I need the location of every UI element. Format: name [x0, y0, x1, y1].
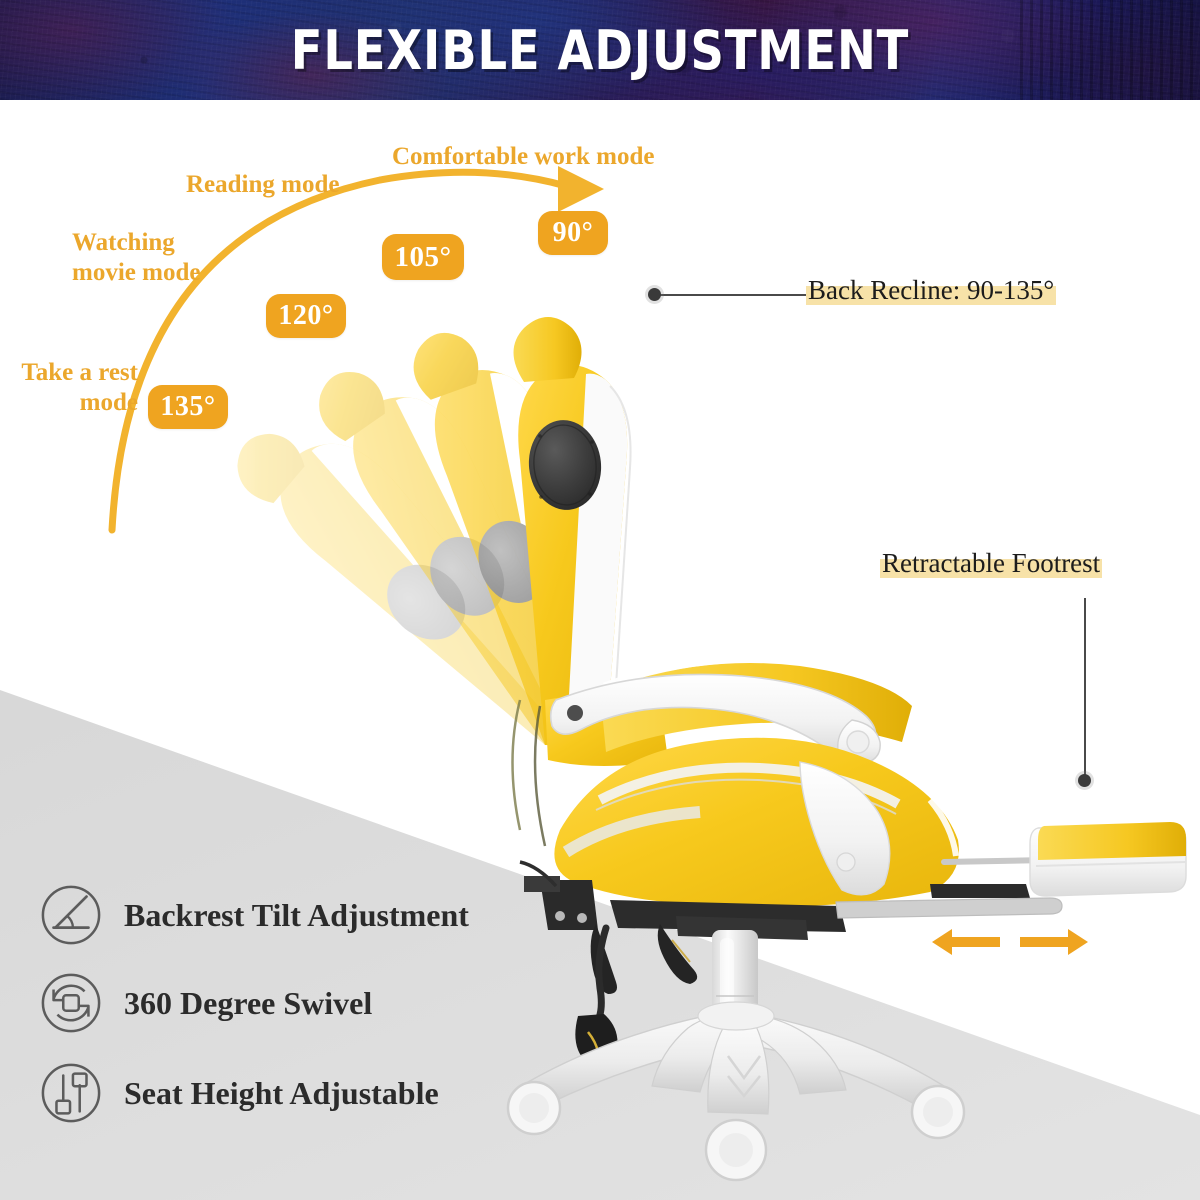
footrest-slide-arrows — [930, 925, 1090, 959]
angle-badge-105[interactable]: 105° — [382, 234, 464, 280]
angle-badge-135[interactable]: 135° — [148, 385, 228, 429]
feature-item-seat-height[interactable]: Seat Height Adjustable — [40, 1062, 439, 1124]
mode-label-take-a-rest: Take a rest mode — [20, 358, 138, 417]
backrest-ghost-105 — [406, 314, 623, 753]
callout-dot-back-recline — [648, 288, 661, 301]
arc-arrowhead — [558, 166, 604, 212]
feature-label-backrest-tilt: Backrest Tilt Adjustment — [124, 897, 469, 934]
feature-label-360-swivel: 360 Degree Swivel — [124, 985, 372, 1022]
arrow-right-icon — [1020, 929, 1088, 955]
callout-back-recline-label: Back Recline: 90-135° — [806, 275, 1056, 306]
rotate-360-icon — [40, 972, 102, 1034]
feature-item-360-swivel[interactable]: 360 Degree Swivel — [40, 972, 372, 1034]
angle-badge-120[interactable]: 120° — [266, 294, 346, 338]
mode-label-work: Comfortable work mode — [392, 142, 654, 172]
armrest — [551, 674, 881, 764]
callout-back-recline: Back Recline: 90-135° — [806, 275, 1056, 306]
tilt-angle-icon — [40, 884, 102, 946]
callout-retractable-footrest: Retractable Footrest — [880, 548, 1102, 579]
seat-pan — [554, 738, 959, 907]
feature-label-seat-height: Seat Height Adjustable — [124, 1075, 439, 1112]
callout-leader-back-recline — [658, 294, 806, 296]
mode-label-reading: Reading mode — [186, 170, 339, 200]
page-title: FLEXIBLE ADJUSTMENT — [84, 0, 1116, 100]
backrest-ghost-135 — [223, 388, 602, 767]
retractable-footrest — [836, 822, 1186, 918]
arrow-left-icon — [932, 929, 1000, 955]
height-slider-icon — [40, 1062, 102, 1124]
callout-dot-footrest — [1078, 774, 1091, 787]
callout-footrest-label: Retractable Footrest — [880, 548, 1102, 579]
feature-item-backrest-tilt[interactable]: Backrest Tilt Adjustment — [40, 884, 469, 946]
mode-label-watching-movie: Watching movie mode — [72, 228, 200, 287]
infographic-page: FLEXIBLE ADJUSTMENT — [0, 0, 1200, 1200]
backrest-upper-flare — [600, 663, 912, 752]
angle-badge-90[interactable]: 90° — [538, 211, 608, 255]
backrest-main-90 — [514, 317, 669, 766]
callout-leader-footrest — [1084, 598, 1086, 780]
backrest-ghost-120 — [306, 337, 614, 760]
